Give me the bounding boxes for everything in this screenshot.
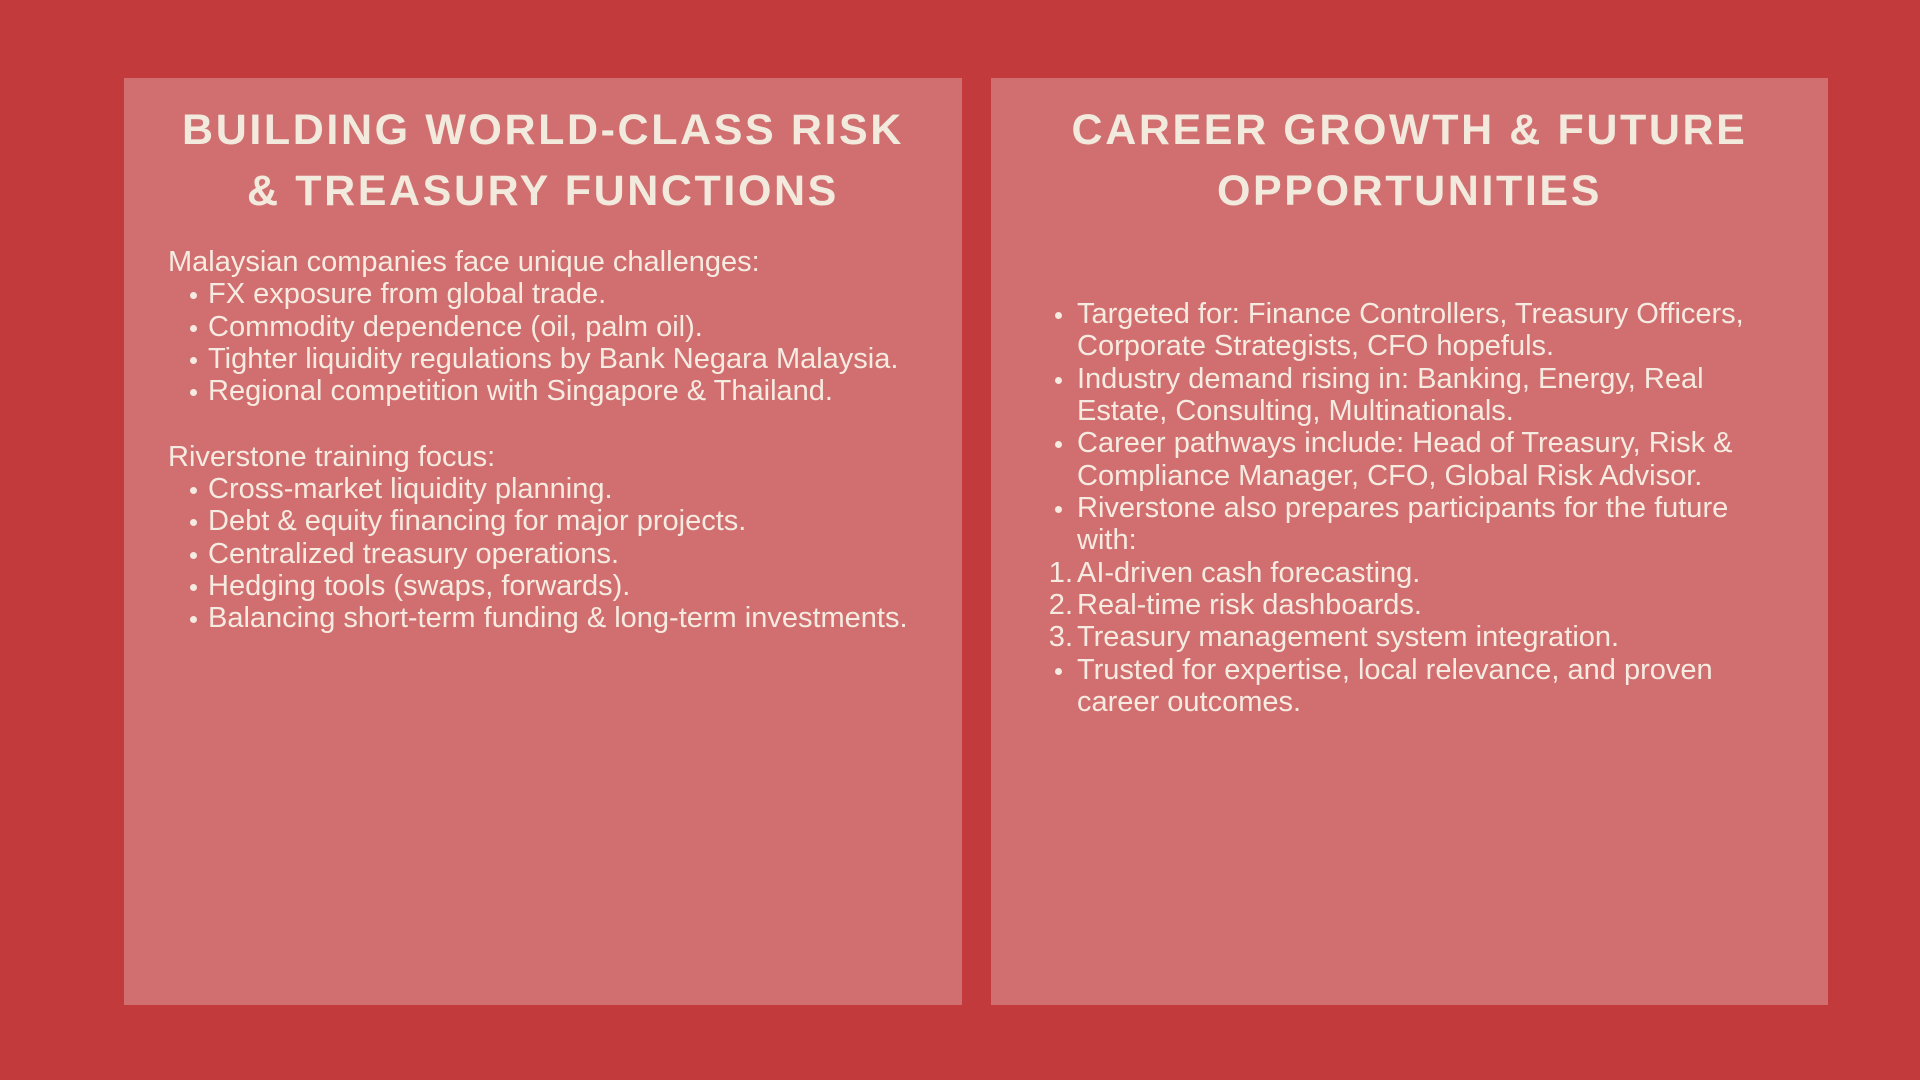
panel-left-section-0-lead: Malaysian companies face unique challeng… bbox=[164, 246, 922, 278]
panel-career-growth-future-opportunities: CAREER GROWTH & FUTURE OPPORTUNITIES Tar… bbox=[991, 78, 1828, 1005]
panel-left-inner: BUILDING WORLD-CLASS RISK & TREASURY FUN… bbox=[124, 78, 962, 1005]
panel-left-body: Malaysian companies face unique challeng… bbox=[164, 246, 922, 635]
list-item: Career pathways include: Head of Treasur… bbox=[1031, 427, 1788, 492]
list-item: Trusted for expertise, local relevance, … bbox=[1031, 654, 1788, 719]
panel-right-section-0-list: Targeted for: Finance Controllers, Treas… bbox=[1031, 298, 1788, 557]
list-item: Debt & equity financing for major projec… bbox=[164, 505, 922, 537]
panel-left-section-0-list: FX exposure from global trade. Commodity… bbox=[164, 278, 922, 407]
list-item: AI-driven cash forecasting. bbox=[1031, 557, 1788, 589]
list-item: Regional competition with Singapore & Th… bbox=[164, 375, 922, 407]
list-item: Riverstone also prepares participants fo… bbox=[1031, 492, 1788, 557]
list-item: Balancing short-term funding & long-term… bbox=[164, 602, 922, 634]
panel-left-section-1-lead: Riverstone training focus: bbox=[164, 441, 922, 473]
panel-right-body: Targeted for: Finance Controllers, Treas… bbox=[1031, 298, 1788, 718]
list-item: Cross-market liquidity planning. bbox=[164, 473, 922, 505]
list-item: FX exposure from global trade. bbox=[164, 278, 922, 310]
panel-right-title: CAREER GROWTH & FUTURE OPPORTUNITIES bbox=[1031, 100, 1788, 222]
panel-building-world-class-risk: BUILDING WORLD-CLASS RISK & TREASURY FUN… bbox=[124, 78, 962, 1005]
panel-right-inner: CAREER GROWTH & FUTURE OPPORTUNITIES Tar… bbox=[991, 78, 1828, 1005]
list-item: Centralized treasury operations. bbox=[164, 538, 922, 570]
section-spacer bbox=[164, 408, 922, 441]
list-item: Tighter liquidity regulations by Bank Ne… bbox=[164, 343, 922, 375]
slide-canvas: BUILDING WORLD-CLASS RISK & TREASURY FUN… bbox=[0, 0, 1920, 1080]
list-item: Real-time risk dashboards. bbox=[1031, 589, 1788, 621]
list-item: Treasury management system integration. bbox=[1031, 621, 1788, 653]
panel-right-section-2-list: Trusted for expertise, local relevance, … bbox=[1031, 654, 1788, 719]
panel-left-title: BUILDING WORLD-CLASS RISK & TREASURY FUN… bbox=[164, 100, 922, 222]
list-item: Commodity dependence (oil, palm oil). bbox=[164, 311, 922, 343]
panel-right-section-1-list: AI-driven cash forecasting. Real-time ri… bbox=[1031, 557, 1788, 654]
list-item: Targeted for: Finance Controllers, Treas… bbox=[1031, 298, 1788, 363]
list-item: Industry demand rising in: Banking, Ener… bbox=[1031, 363, 1788, 428]
panel-left-section-1-list: Cross-market liquidity planning. Debt & … bbox=[164, 473, 922, 635]
list-item: Hedging tools (swaps, forwards). bbox=[164, 570, 922, 602]
